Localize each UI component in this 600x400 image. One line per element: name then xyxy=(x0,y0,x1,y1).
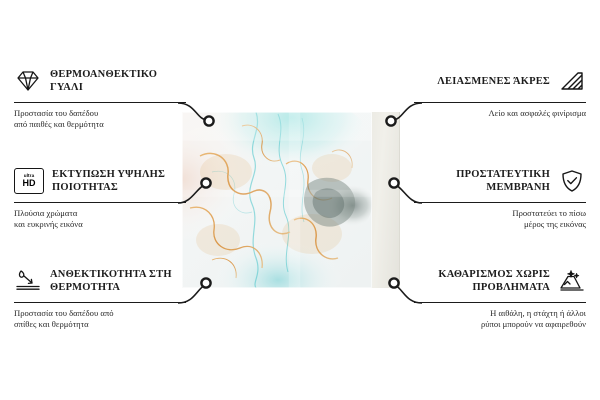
feature-header: ultra HD ΕΚΤΥΠΩΣΗ ΥΨΗΛΗΣ ΠΟΙΟΤΗΤΑΣ xyxy=(14,164,186,198)
marble-artwork xyxy=(182,112,372,288)
desc-line: Προστασία του δαπέδου xyxy=(14,108,186,119)
ultra-hd-icon: ultra HD xyxy=(14,168,44,194)
feature-polished-edges: ΛΕΙΑΣΜΕΝΕΣ ΆΚΡΕΣ Λείο και ασφαλές φινίρι… xyxy=(414,64,586,119)
feature-protective-membrane: ΠΡΟΣΤΑΤΕΥΤΙΚΗ ΜΕΜΒΡΑΝΗ Προστατεύει το πί… xyxy=(414,164,586,230)
feature-description: Προστατεύει το πίσω μέρος της εικόνας xyxy=(414,208,586,230)
feature-header: ΘΕΡΜΟΑΝΘΕΚΤΙΚΟ ΓΥΑΛΙ xyxy=(14,64,186,98)
sparkle-sponge-icon xyxy=(558,268,586,294)
divider xyxy=(414,102,586,103)
desc-line: Λείο και ασφαλές φινίρισμα xyxy=(414,108,586,119)
divider xyxy=(14,102,186,103)
divider xyxy=(14,302,186,303)
feature-description: Πλούσια χρώματα και ευκρινής εικόνα xyxy=(14,208,186,230)
ultra-hd-bottom: HD xyxy=(23,179,36,188)
desc-line: μέρος της εικόνας xyxy=(414,219,586,230)
feature-heat-durability: ΑΝΘΕΚΤΙΚΟΤΗΤΑ ΣΤΗ ΘΕΡΜΟΤΗΤΑ Προστασία το… xyxy=(14,264,186,330)
desc-line: και ευκρινής εικόνα xyxy=(14,219,186,230)
diamond-icon xyxy=(14,68,42,94)
glass-panel-front xyxy=(182,112,372,288)
feature-description: Προστασία του δαπέδου από σπίθες και θερ… xyxy=(14,308,186,330)
flame-arrow-icon xyxy=(14,268,42,294)
divider xyxy=(414,302,586,303)
feature-title: ΚΑΘΑΡΙΣΜΟΣ ΧΩΡΙΣ ΠΡΟΒΛΗΜΑΤΑ xyxy=(414,268,550,294)
desc-line: Η αιθάλη, η στάχτη ή άλλοι xyxy=(414,308,586,319)
diagonal-lines-icon xyxy=(558,68,586,94)
desc-line: σπίθες και θερμότητα xyxy=(14,319,186,330)
feature-heat-resistant-glass: ΘΕΡΜΟΑΝΘΕΚΤΙΚΟ ΓΥΑΛΙ Προστασία του δαπέδ… xyxy=(14,64,186,130)
feature-title: ΛΕΙΑΣΜΕΝΕΣ ΆΚΡΕΣ xyxy=(437,75,550,88)
feature-description: Η αιθάλη, η στάχτη ή άλλοι ρύποι μπορούν… xyxy=(414,308,586,330)
divider xyxy=(414,202,586,203)
feature-title: ΘΕΡΜΟΑΝΘΕΚΤΙΚΟ ΓΥΑΛΙ xyxy=(50,68,186,94)
infographic-stage: ΘΕΡΜΟΑΝΘΕΚΤΙΚΟ ΓΥΑΛΙ Προστασία του δαπέδ… xyxy=(0,0,600,400)
feature-easy-cleaning: ΚΑΘΑΡΙΣΜΟΣ ΧΩΡΙΣ ΠΡΟΒΛΗΜΑΤΑ Η αιθάλη, η … xyxy=(414,264,586,330)
product-image xyxy=(182,112,400,288)
feature-header: ΠΡΟΣΤΑΤΕΥΤΙΚΗ ΜΕΜΒΡΑΝΗ xyxy=(414,164,586,198)
feature-header: ΛΕΙΑΣΜΕΝΕΣ ΆΚΡΕΣ xyxy=(414,64,586,98)
feature-title: ΑΝΘΕΚΤΙΚΟΤΗΤΑ ΣΤΗ ΘΕΡΜΟΤΗΤΑ xyxy=(50,268,186,294)
feature-high-quality-print: ultra HD ΕΚΤΥΠΩΣΗ ΥΨΗΛΗΣ ΠΟΙΟΤΗΤΑΣ Πλούσ… xyxy=(14,164,186,230)
desc-line: από παιθές και θερμότητα xyxy=(14,119,186,130)
desc-line: Προστασία του δαπέδου από xyxy=(14,308,186,319)
desc-line: ρύποι μπορούν να αφαιρεθούν xyxy=(414,319,586,330)
feature-description: Προστασία του δαπέδου από παιθές και θερ… xyxy=(14,108,186,130)
feature-description: Λείο και ασφαλές φινίρισμα xyxy=(414,108,586,119)
desc-line: Προστατεύει το πίσω xyxy=(414,208,586,219)
shield-check-icon xyxy=(558,168,586,194)
feature-title: ΠΡΟΣΤΑΤΕΥΤΙΚΗ ΜΕΜΒΡΑΝΗ xyxy=(414,168,550,194)
feature-header: ΑΝΘΕΚΤΙΚΟΤΗΤΑ ΣΤΗ ΘΕΡΜΟΤΗΤΑ xyxy=(14,264,186,298)
feature-header: ΚΑΘΑΡΙΣΜΟΣ ΧΩΡΙΣ ΠΡΟΒΛΗΜΑΤΑ xyxy=(414,264,586,298)
desc-line: Πλούσια χρώματα xyxy=(14,208,186,219)
divider xyxy=(14,202,186,203)
feature-title: ΕΚΤΥΠΩΣΗ ΥΨΗΛΗΣ ΠΟΙΟΤΗΤΑΣ xyxy=(52,168,186,194)
